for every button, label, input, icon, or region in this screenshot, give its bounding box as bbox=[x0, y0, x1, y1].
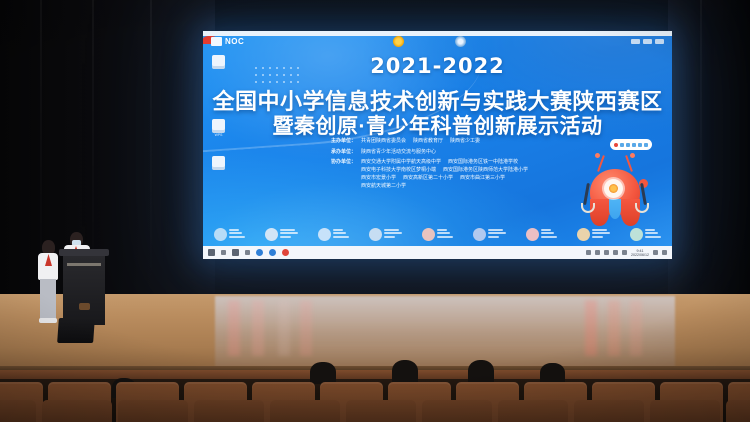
noc-logo: NOC bbox=[211, 37, 244, 46]
mascot-face-icon bbox=[604, 179, 623, 198]
explorer-icon[interactable] bbox=[245, 250, 250, 255]
sponsor-mark-icon bbox=[214, 228, 227, 241]
antenna-ball-icon bbox=[595, 153, 600, 158]
wps-taskbar-icon[interactable] bbox=[282, 249, 289, 256]
audience-seat bbox=[118, 400, 188, 422]
sponsor-wordmark bbox=[488, 229, 506, 240]
sponsor-wordmark bbox=[333, 229, 349, 240]
taskbar-clock[interactable]: 9:41 2022/06/12 bbox=[631, 249, 649, 257]
audience-seat bbox=[346, 400, 416, 422]
grid-dot bbox=[290, 81, 292, 83]
noc-label: NOC bbox=[225, 37, 244, 46]
curtain-fold bbox=[150, 0, 152, 300]
sponsor-logo bbox=[318, 228, 349, 241]
windows-taskbar[interactable]: 9:41 2022/06/12 bbox=[203, 246, 672, 259]
sponsor-logo bbox=[369, 228, 402, 241]
curtain-fold bbox=[700, 0, 702, 300]
sponsor-mark-icon bbox=[422, 228, 435, 241]
slide-title-sub: 暨秦创原·青少年科普创新展示活动 bbox=[203, 110, 672, 140]
floor-reflection bbox=[630, 300, 642, 356]
front-rail bbox=[0, 370, 750, 379]
taskbar-apps[interactable] bbox=[208, 249, 289, 256]
sponsor-logo bbox=[214, 228, 245, 241]
battery-icon[interactable] bbox=[622, 250, 627, 255]
audience-person bbox=[310, 362, 336, 384]
sponsor-mark-icon bbox=[318, 228, 331, 241]
audience-person bbox=[392, 360, 418, 384]
grid-dot bbox=[297, 81, 299, 83]
sponsor-logo bbox=[526, 228, 557, 241]
noc-mark-icon bbox=[211, 37, 222, 46]
organizer-values: 西安交通大学附属中学航天高级中学西安国际港务区铁一中陆港学校 西安电子科技大学南… bbox=[361, 158, 535, 190]
mascot-leg-gap bbox=[609, 199, 621, 219]
sponsor-logo bbox=[422, 228, 453, 241]
window-controls[interactable] bbox=[631, 39, 664, 44]
organizer-values: 共青团陕西省委员会陕西省教育厅陕西省少工委 bbox=[361, 137, 487, 145]
task-view-icon[interactable] bbox=[232, 249, 239, 256]
sponsor-mark-icon bbox=[526, 228, 539, 241]
browser-icon[interactable] bbox=[256, 249, 263, 256]
sponsor-wordmark bbox=[592, 229, 610, 240]
sponsor-wordmark bbox=[645, 229, 661, 240]
clock-date: 2022/06/12 bbox=[631, 253, 649, 257]
sponsor-logo bbox=[473, 228, 506, 241]
podium-top bbox=[59, 249, 109, 256]
notification-icon[interactable] bbox=[662, 250, 667, 255]
sponsor-mark-icon bbox=[265, 228, 278, 241]
slide-year: 2021-2022 bbox=[203, 54, 672, 78]
close-icon[interactable] bbox=[655, 39, 664, 44]
antenna-ball-icon bbox=[630, 153, 635, 158]
audience-seat bbox=[498, 400, 568, 422]
sponsor-mark-icon bbox=[369, 228, 382, 241]
projection-screen: NOC WPS 2021-2022 bbox=[203, 31, 672, 259]
taskbar-tray[interactable]: 9:41 2022/06/12 bbox=[586, 249, 667, 257]
desktop-icon-3[interactable] bbox=[212, 156, 225, 171]
organizer-values: 陕西省青少年活动交流与服务中心 bbox=[361, 148, 443, 156]
floor-reflection bbox=[252, 300, 264, 356]
shield-icon[interactable] bbox=[586, 250, 591, 255]
slide-top-logo-strip: NOC bbox=[203, 36, 672, 49]
grid-dot bbox=[262, 81, 264, 83]
sponsor-logo bbox=[630, 228, 661, 241]
start-icon[interactable] bbox=[208, 249, 215, 256]
floor-reflection bbox=[608, 300, 620, 356]
ime-icon[interactable] bbox=[653, 250, 658, 255]
audience-person bbox=[468, 360, 494, 384]
podium-emblem bbox=[79, 303, 90, 310]
edge-icon[interactable] bbox=[269, 249, 276, 256]
podium bbox=[63, 253, 105, 325]
organizer-label: 协办单位： bbox=[331, 158, 356, 165]
mascot-arm-left bbox=[583, 183, 590, 205]
sponsor-wordmark bbox=[541, 229, 557, 240]
floor-reflection bbox=[228, 300, 240, 356]
sponsor-wordmark bbox=[437, 229, 453, 240]
emblem-blue-icon bbox=[455, 36, 466, 47]
auditorium-scene: NOC WPS 2021-2022 bbox=[0, 0, 750, 422]
audience-seat bbox=[0, 400, 36, 422]
audience-seat bbox=[726, 400, 750, 422]
floor-reflection bbox=[585, 300, 597, 356]
volume-icon[interactable] bbox=[613, 250, 618, 255]
audience-seat bbox=[42, 400, 112, 422]
sponsor-wordmark bbox=[229, 229, 245, 240]
audience-seat bbox=[194, 400, 264, 422]
chevron-up-icon[interactable] bbox=[595, 250, 600, 255]
podium-text-plate bbox=[67, 263, 101, 266]
mascot-badge bbox=[610, 139, 652, 150]
sponsor-wordmark bbox=[280, 229, 298, 240]
network-icon[interactable] bbox=[604, 250, 609, 255]
emblem-gold-icon bbox=[393, 36, 404, 47]
sponsor-logo bbox=[265, 228, 298, 241]
organizer-label: 主办单位： bbox=[331, 137, 356, 144]
shoes bbox=[39, 318, 57, 323]
audience-seat bbox=[650, 400, 720, 422]
file-icon bbox=[212, 156, 225, 170]
sponsor-logo bbox=[577, 228, 610, 241]
floor-reflection bbox=[278, 300, 290, 356]
audience-seat bbox=[574, 400, 644, 422]
grid-dot bbox=[283, 81, 285, 83]
legs bbox=[40, 279, 56, 320]
organizer-row: 主办单位： 共青团陕西省委员会陕西省教育厅陕西省少工委 bbox=[331, 137, 631, 145]
grid-dot bbox=[269, 81, 271, 83]
floor-reflection bbox=[300, 300, 312, 356]
sponsor-mark-icon bbox=[577, 228, 590, 241]
grid-dot bbox=[276, 81, 278, 83]
audience-person bbox=[540, 363, 565, 384]
sponsor-wordmark bbox=[384, 229, 402, 240]
organizer-label: 承办单位： bbox=[331, 148, 356, 155]
audience-seat bbox=[422, 400, 492, 422]
curtain-right bbox=[668, 0, 750, 300]
maximize-icon[interactable] bbox=[643, 39, 652, 44]
sponsor-mark-icon bbox=[630, 228, 643, 241]
audience-seat bbox=[270, 400, 340, 422]
sponsor-logo-strip bbox=[203, 222, 672, 246]
stage-monitor-speaker bbox=[57, 318, 95, 343]
mascot-hand-right bbox=[635, 203, 649, 213]
minimize-icon[interactable] bbox=[631, 39, 640, 44]
search-icon[interactable] bbox=[221, 250, 226, 255]
red-robot-mascot bbox=[580, 153, 650, 231]
grid-dot bbox=[255, 81, 257, 83]
sponsor-mark-icon bbox=[473, 228, 486, 241]
